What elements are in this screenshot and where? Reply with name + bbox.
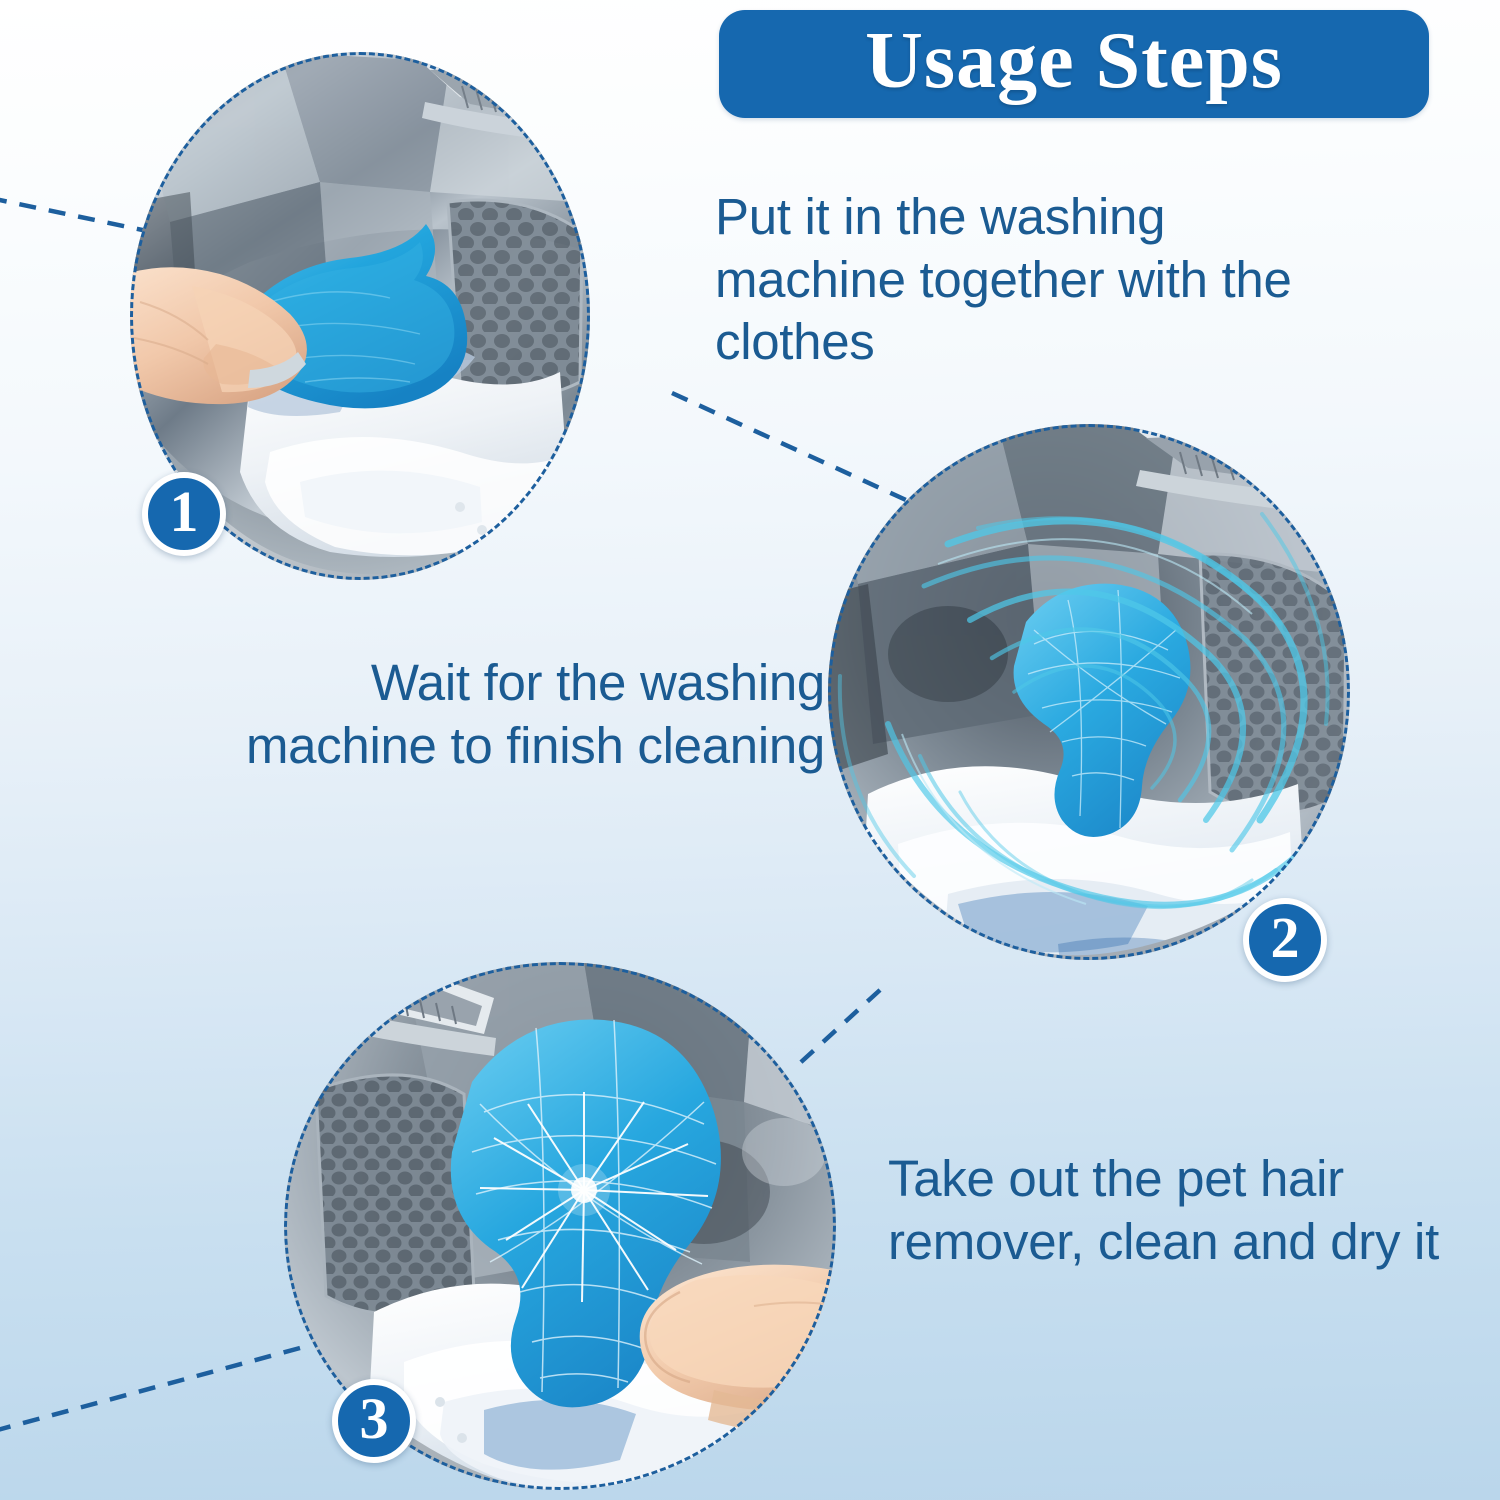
washing-machine-spin-photo-icon: [828, 424, 1350, 960]
step-2-number: 2: [1271, 909, 1300, 971]
step-2-photo: [828, 424, 1350, 960]
connector-step3-to-left-icon: [0, 1348, 300, 1432]
usage-steps-infographic: Usage Steps Put it in the washing machin…: [0, 0, 1500, 1500]
step-3-number-badge: 3: [332, 1379, 416, 1463]
connector-left-to-step1-icon: [0, 198, 152, 232]
page-title-badge: Usage Steps: [719, 10, 1429, 118]
connector-step1-to-step2-icon: [672, 393, 906, 500]
connector-step2-to-step3-icon: [800, 990, 880, 1063]
step-1-number: 1: [170, 483, 199, 545]
step-1-number-badge: 1: [142, 472, 226, 556]
page-title: Usage Steps: [865, 21, 1283, 107]
step-2-number-badge: 2: [1243, 898, 1327, 982]
step-1-description: Put it in the washing machine together w…: [715, 186, 1365, 374]
step-2-description: Wait for the washing machine to finish c…: [205, 652, 825, 777]
step-3-number: 3: [360, 1390, 389, 1452]
step-3-description: Take out the pet hair remover, clean and…: [888, 1148, 1488, 1273]
